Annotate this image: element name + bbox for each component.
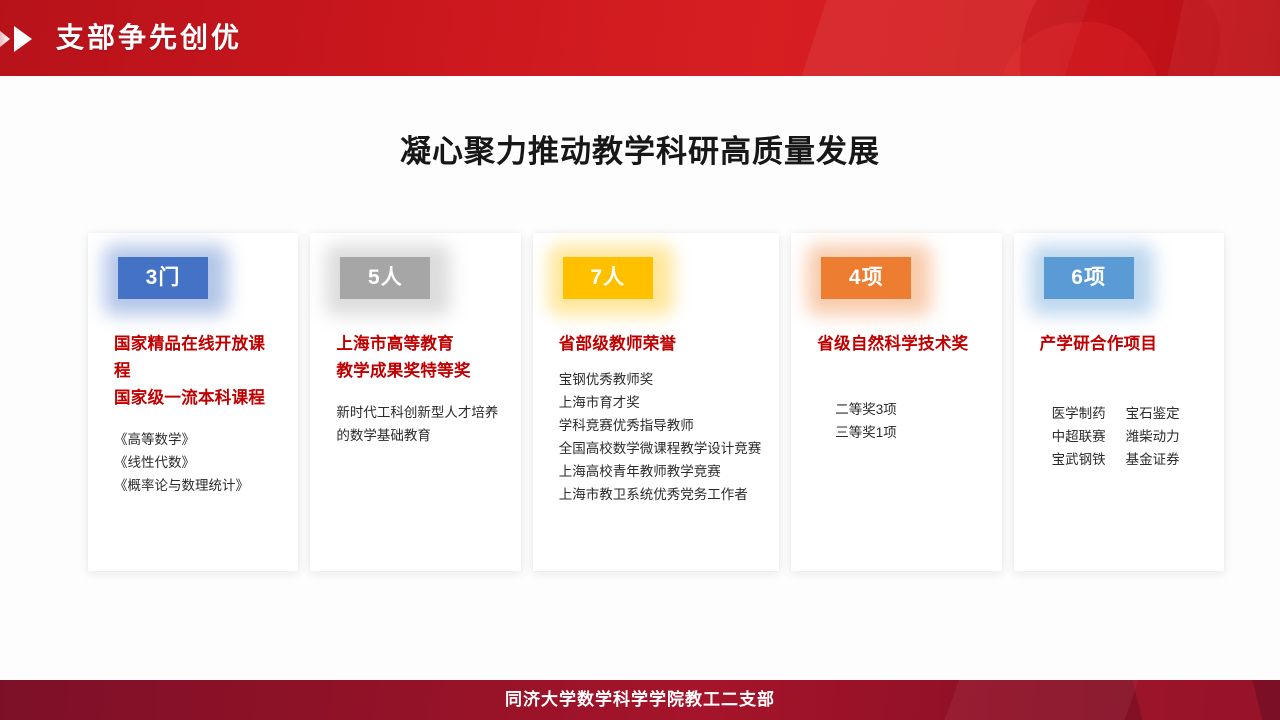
achievement-card-list: 3门 国家精品在线开放课程 国家级一流本科课程 《高等数学》 《线性代数》 《概… xyxy=(88,233,1224,571)
footer-text: 同济大学数学科学学院教工二支部 xyxy=(0,680,1280,720)
card-heading: 省级自然科学技术奖 xyxy=(817,331,983,358)
list-item: 三等奖1项 xyxy=(835,421,983,444)
card-heading-line: 教学成果奖特等奖 xyxy=(336,358,502,385)
card-heading-line: 省部级教师荣誉 xyxy=(559,331,762,358)
count-badge: 4项 xyxy=(821,257,911,299)
card-item-list: 《高等数学》 《线性代数》 《概率论与数理统计》 xyxy=(114,428,280,497)
list-item: 全国高校数学微课程教学设计竞赛 xyxy=(559,437,762,460)
card-heading: 产学研合作项目 xyxy=(1040,331,1206,358)
card-heading: 上海市高等教育 教学成果奖特等奖 xyxy=(336,331,502,385)
card-heading: 省部级教师荣誉 xyxy=(559,331,762,358)
list-item: 新时代工科创新型人才培养的数学基础教育 xyxy=(336,401,502,447)
list-item: 宝钢优秀教师奖 xyxy=(559,368,762,391)
badge-wrapper: 5人 xyxy=(340,257,430,299)
list-item: 上海市教卫系统优秀党务工作者 xyxy=(559,483,762,506)
achievement-card[interactable]: 6项 产学研合作项目 医学制药 宝石鉴定 中超联赛 潍柴动力 宝武钢铁 基金证券 xyxy=(1014,233,1224,571)
card-item-list: 医学制药 宝石鉴定 中超联赛 潍柴动力 宝武钢铁 基金证券 xyxy=(1052,402,1206,471)
list-item: 上海市育才奖 xyxy=(559,391,762,414)
achievement-card[interactable]: 4项 省级自然科学技术奖 二等奖3项 三等奖1项 xyxy=(791,233,1001,571)
list-item: 医学制药 宝石鉴定 xyxy=(1052,402,1206,425)
list-item: 宝武钢铁 基金证券 xyxy=(1052,448,1206,471)
list-item: 中超联赛 潍柴动力 xyxy=(1052,425,1206,448)
count-badge: 3门 xyxy=(118,257,208,299)
header-title: 支部争先创优 xyxy=(56,18,242,58)
achievement-card[interactable]: 7人 省部级教师荣誉 宝钢优秀教师奖 上海市育才奖 学科竞赛优秀指导教师 全国高… xyxy=(533,233,780,571)
list-item: 《高等数学》 xyxy=(114,428,280,451)
count-badge: 6项 xyxy=(1044,257,1134,299)
list-item: 二等奖3项 xyxy=(835,398,983,421)
badge-wrapper: 6项 xyxy=(1044,257,1134,299)
card-heading-line: 产学研合作项目 xyxy=(1040,331,1206,358)
list-item-col: 医学制药 xyxy=(1052,402,1106,425)
card-heading-line: 上海市高等教育 xyxy=(336,331,502,358)
page-title: 凝心聚力推动教学科研高质量发展 xyxy=(0,126,1280,171)
list-item: 学科竞赛优秀指导教师 xyxy=(559,414,762,437)
card-item-list: 新时代工科创新型人才培养的数学基础教育 xyxy=(336,401,502,447)
list-item-col: 宝石鉴定 xyxy=(1126,402,1180,425)
list-item: 《线性代数》 xyxy=(114,451,280,474)
badge-wrapper: 4项 xyxy=(821,257,911,299)
card-heading-line: 省级自然科学技术奖 xyxy=(817,331,983,358)
list-item: 上海高校青年教师教学竞赛 xyxy=(559,460,762,483)
badge-wrapper: 7人 xyxy=(563,257,653,299)
list-item: 《概率论与数理统计》 xyxy=(114,474,280,497)
list-item-col: 宝武钢铁 xyxy=(1052,448,1106,471)
slide-root: 支部争先创优 凝心聚力推动教学科研高质量发展 3门 国家精品在线开放课程 国家级… xyxy=(0,0,1280,720)
header-bar: 支部争先创优 xyxy=(0,0,1280,76)
footer-bar: 同济大学数学科学学院教工二支部 xyxy=(0,680,1280,720)
card-item-list: 宝钢优秀教师奖 上海市育才奖 学科竞赛优秀指导教师 全国高校数学微课程教学设计竞… xyxy=(559,368,762,506)
card-heading: 国家精品在线开放课程 国家级一流本科课程 xyxy=(114,331,280,412)
double-chevron-right-icon xyxy=(0,24,52,54)
list-item-col: 基金证券 xyxy=(1126,448,1180,471)
achievement-card[interactable]: 3门 国家精品在线开放课程 国家级一流本科课程 《高等数学》 《线性代数》 《概… xyxy=(88,233,298,571)
count-badge: 7人 xyxy=(563,257,653,299)
card-item-list: 二等奖3项 三等奖1项 xyxy=(835,398,983,444)
count-badge: 5人 xyxy=(340,257,430,299)
card-heading-line: 国家精品在线开放课程 xyxy=(114,331,280,385)
achievement-card[interactable]: 5人 上海市高等教育 教学成果奖特等奖 新时代工科创新型人才培养的数学基础教育 xyxy=(310,233,520,571)
card-heading-line: 国家级一流本科课程 xyxy=(114,385,280,412)
list-item-col: 潍柴动力 xyxy=(1126,425,1180,448)
list-item-col: 中超联赛 xyxy=(1052,425,1106,448)
badge-wrapper: 3门 xyxy=(118,257,208,299)
